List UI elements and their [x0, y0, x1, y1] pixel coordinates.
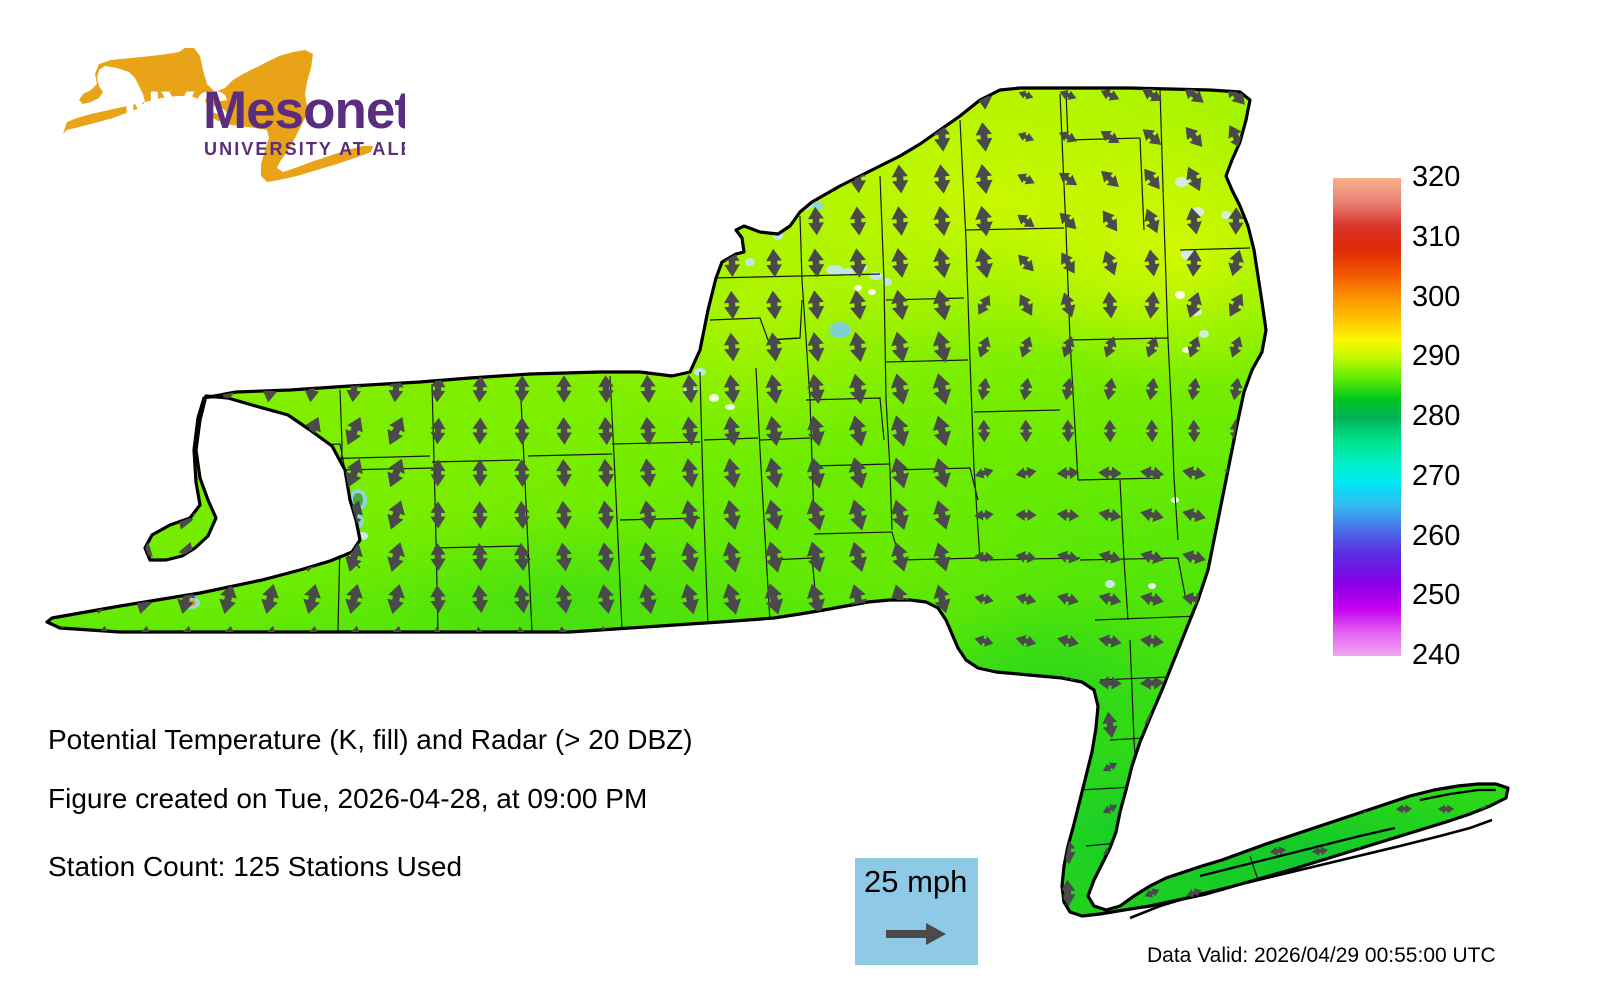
- wind-arrow: [1265, 464, 1291, 483]
- wind-arrow: [640, 291, 655, 319]
- wind-arrow: [471, 165, 489, 194]
- wind-arrow: [514, 333, 530, 361]
- colorbar-tick-310: 310: [1412, 223, 1460, 252]
- wind-arrow: [385, 666, 407, 699]
- wind-arrow: [808, 123, 824, 151]
- wind-arrow: [1350, 672, 1374, 694]
- wind-arrow: [471, 123, 490, 152]
- wind-arrow: [931, 709, 953, 740]
- wind-arrow: [636, 665, 661, 700]
- data-valid-timestamp: Data Valid: 2026/04/29 00:55:00 UTC: [1147, 944, 1496, 968]
- wind-arrow: [933, 80, 950, 110]
- colorbar-tick-240: 240: [1412, 641, 1460, 670]
- wind-arrow: [1223, 548, 1249, 566]
- wind-arrow: [1266, 592, 1289, 605]
- wind-arrow: [1479, 710, 1497, 740]
- wind-arrow: [892, 81, 908, 110]
- wind-arrow: [1185, 711, 1202, 739]
- wind-arrow: [931, 752, 952, 783]
- wind-arrow: [130, 455, 157, 490]
- wind-arrow: [130, 413, 158, 448]
- wind-arrow: [1307, 632, 1332, 651]
- wind-arrow: [1480, 762, 1496, 771]
- wind-arrow: [678, 877, 702, 910]
- wind-arrow: [805, 835, 827, 866]
- wind-arrow: [1311, 123, 1328, 151]
- wind-arrow: [261, 333, 280, 362]
- wind-arrow: [805, 793, 828, 825]
- wind-arrow: [1101, 885, 1120, 901]
- wind-arrow: [1269, 761, 1287, 773]
- wind-arrow: [1308, 507, 1332, 524]
- wind-arrow: [1265, 672, 1292, 694]
- wind-arrow: [133, 666, 155, 699]
- figure-created-timestamp: Figure created on Tue, 2026-04-28, at 09…: [48, 783, 647, 815]
- wind-arrow: [682, 207, 698, 235]
- wind-arrow: [1353, 81, 1371, 110]
- colorbar-tick-260: 260: [1412, 522, 1460, 551]
- wind-arrow: [1264, 79, 1291, 110]
- wind-arrow: [1185, 760, 1203, 774]
- wind-arrow: [804, 751, 827, 784]
- wind-arrow: [468, 834, 493, 869]
- wind-arrow: [1308, 464, 1333, 482]
- wind-arrow: [761, 666, 786, 701]
- wind-arrow: [303, 206, 322, 235]
- wind-arrow: [471, 207, 489, 235]
- wind-arrow: [1270, 711, 1286, 738]
- wind-arrow: [1185, 802, 1203, 816]
- wind-arrow: [682, 291, 698, 319]
- wind-arrow: [1017, 837, 1035, 865]
- wind-arrow: [387, 333, 405, 361]
- wind-arrow: [215, 498, 241, 533]
- wind-arrow: [555, 165, 573, 193]
- wind-arrow: [1438, 888, 1454, 897]
- wind-arrow: [974, 752, 994, 782]
- wind-arrow: [762, 793, 786, 826]
- wind-arrow: [1308, 592, 1332, 607]
- wind-arrow: [719, 708, 744, 743]
- wind-arrow: [217, 666, 239, 699]
- wind-arrow: [470, 667, 491, 699]
- wind-arrow: [261, 290, 280, 319]
- wind-arrow: [92, 374, 111, 404]
- wind-arrow: [762, 750, 786, 783]
- wind-arrow: [135, 332, 154, 362]
- wind-arrow: [51, 248, 69, 279]
- wind-arrow: [345, 206, 364, 235]
- wind-arrow: [511, 667, 533, 699]
- wind-arrow: [135, 290, 154, 320]
- wind-arrow: [93, 206, 111, 237]
- wind-arrow: [1438, 762, 1454, 771]
- wind-arrow: [513, 165, 531, 193]
- wind-arrow: [1223, 591, 1248, 607]
- wind-arrow: [1396, 888, 1412, 897]
- wind-arrow: [472, 333, 489, 361]
- wind-arrow: [88, 455, 115, 490]
- wind-arrow: [891, 122, 908, 152]
- wind-arrow: [1267, 122, 1290, 153]
- wind-arrow: [387, 207, 406, 236]
- wind-arrow: [467, 875, 493, 911]
- wind-arrow: [720, 835, 744, 868]
- wind-arrow: [47, 540, 72, 574]
- wind-arrow: [597, 165, 614, 193]
- wind-arrow: [1311, 888, 1328, 899]
- wind-arrow: [387, 291, 405, 319]
- colorbar-tick-320: 320: [1412, 163, 1460, 192]
- wind-arrow: [1396, 762, 1412, 771]
- wind-arrow: [1270, 165, 1286, 193]
- wind-arrow: [135, 206, 153, 237]
- wind-arrow: [89, 498, 115, 533]
- wind-arrow: [1182, 634, 1207, 648]
- wind-arrow: [215, 540, 240, 574]
- wind-arrow: [1477, 125, 1499, 148]
- wind-arrow: [387, 249, 405, 278]
- wind-arrow: [1268, 206, 1289, 236]
- wind-speed-legend: 25 mph: [855, 858, 978, 965]
- wind-arrow: [1016, 710, 1036, 740]
- wind-arrow: [509, 875, 535, 911]
- nys-mesonet-logo: NYS Mesonet UNIVERSITY AT ALBANY: [55, 48, 405, 183]
- wind-arrow-icon: [886, 921, 948, 947]
- wind-arrow: [766, 165, 781, 193]
- wind-arrow: [551, 875, 576, 910]
- wind-arrow: [91, 666, 113, 699]
- wind-arrow: [889, 709, 912, 741]
- wind-arrow: [51, 205, 69, 236]
- wind-arrow: [177, 206, 196, 236]
- wind-arrow: [429, 80, 448, 109]
- wind-arrow: [932, 794, 952, 824]
- wind-arrow: [46, 455, 73, 490]
- wind-arrow: [681, 123, 698, 151]
- wind-arrow: [1311, 762, 1328, 773]
- wind-arrow: [298, 455, 325, 490]
- wind-arrow: [93, 290, 112, 320]
- wind-arrow: [1310, 374, 1331, 404]
- wind-arrow: [846, 624, 870, 658]
- wind-arrow: [555, 81, 573, 109]
- wind-arrow: [345, 291, 363, 320]
- wind-arrow: [1310, 165, 1329, 194]
- wind-arrow: [720, 792, 744, 825]
- wind-arrow: [428, 668, 448, 699]
- wind-arrow: [48, 582, 72, 616]
- wind-arrow: [93, 332, 112, 362]
- wind-arrow: [1394, 672, 1415, 693]
- wind-arrow: [640, 249, 656, 277]
- wind-arrow: [51, 290, 70, 321]
- wind-arrow: [303, 248, 322, 277]
- wind-arrow: [1223, 673, 1250, 693]
- wind-arrow: [1014, 675, 1037, 691]
- wind-arrow: [49, 666, 71, 699]
- wind-arrow: [556, 333, 572, 361]
- figure-title: Potential Temperature (K, fill) and Rada…: [48, 724, 693, 756]
- wind-arrow: [429, 207, 447, 236]
- wind-arrow: [721, 877, 744, 909]
- logo-mesonet-text: Mesonet: [203, 81, 405, 140]
- wind-arrow: [256, 413, 284, 448]
- wind-arrow: [636, 834, 661, 868]
- wind-arrow: [594, 666, 618, 700]
- wind-arrow: [509, 833, 535, 869]
- wind-arrow: [850, 81, 866, 109]
- wind-arrow: [973, 675, 995, 690]
- wind-arrow: [257, 540, 282, 574]
- wind-arrow: [555, 207, 572, 235]
- wind-arrow: [1353, 123, 1371, 151]
- colorbar-tick-280: 280: [1412, 402, 1460, 431]
- wind-arrow: [219, 290, 238, 319]
- wind-arrow: [1480, 846, 1496, 855]
- wind-arrow: [681, 81, 698, 109]
- wind-arrow: [1265, 549, 1290, 565]
- wind-arrow: [763, 835, 786, 867]
- wind-arrow: [1308, 550, 1331, 564]
- wind-arrow: [1018, 879, 1035, 907]
- colorbar-tick-290: 290: [1412, 342, 1460, 371]
- wind-arrow: [303, 333, 321, 362]
- wind-arrow: [429, 291, 447, 319]
- wind-arrow: [303, 291, 322, 320]
- wind-arrow: [682, 165, 699, 193]
- wind-arrow: [177, 248, 196, 278]
- wind-arrow: [1223, 505, 1250, 524]
- wind-arrow: [1480, 888, 1496, 897]
- wind-arrow: [513, 81, 531, 110]
- wind-arrow: [762, 708, 787, 742]
- wind-arrow: [931, 667, 954, 699]
- wind-arrow: [471, 291, 488, 319]
- wind-arrow: [974, 794, 993, 823]
- wind-arrow: [639, 123, 656, 151]
- wind-arrow: [805, 878, 826, 909]
- wind-arrow: [177, 332, 196, 362]
- wind-arrow: [640, 333, 656, 361]
- wind-arrow: [1227, 803, 1245, 816]
- wind-arrow: [1477, 82, 1498, 108]
- wind-arrow: [429, 333, 446, 361]
- colorbar-tick-300: 300: [1412, 283, 1460, 312]
- wind-arrow: [847, 793, 869, 824]
- wind-arrow: [214, 455, 241, 490]
- wind-arrow: [598, 333, 613, 361]
- wind-arrow: [1223, 633, 1248, 648]
- wind-arrow: [1396, 711, 1413, 739]
- wind-arrow: [219, 332, 238, 361]
- wind-arrow: [553, 666, 576, 699]
- wind-arrow: [1269, 803, 1287, 815]
- wind-arrow: [1143, 844, 1162, 859]
- wind-arrow: [719, 665, 744, 700]
- wind-arrow: [804, 666, 829, 700]
- wind-arrow: [677, 665, 703, 701]
- wind-arrow: [555, 123, 573, 151]
- wind-arrow: [1436, 81, 1456, 108]
- wind-arrow: [219, 248, 238, 278]
- wind-arrow: [889, 794, 910, 825]
- wind-arrow: [766, 81, 783, 109]
- wind-arrow: [598, 249, 614, 277]
- wind-arrow: [724, 123, 741, 151]
- wind-arrow: [471, 249, 489, 277]
- wind-arrow: [1354, 888, 1371, 898]
- wind-arrow: [214, 413, 242, 448]
- wind-arrow: [556, 249, 573, 277]
- wind-arrow: [846, 666, 870, 699]
- wind-arrow: [846, 709, 869, 742]
- wind-arrow: [429, 165, 448, 194]
- wind-arrow: [1265, 506, 1291, 524]
- wind-arrow: [640, 207, 656, 235]
- wind-arrow: [93, 248, 111, 279]
- wind-arrow: [804, 624, 829, 658]
- wind-arrow: [1308, 79, 1332, 110]
- wind-arrow: [219, 206, 238, 236]
- wind-arrow: [175, 666, 197, 699]
- wind-arrow: [177, 374, 196, 403]
- wind-arrow: [1396, 81, 1413, 108]
- wind-arrow: [1016, 752, 1035, 781]
- wind-arrow: [345, 249, 364, 278]
- wind-arrow: [639, 81, 657, 109]
- colorbar-tick-labels: 320310300290280270260250240: [1412, 178, 1532, 656]
- wind-arrow: [598, 291, 614, 319]
- wind-arrow: [1017, 795, 1036, 824]
- wind-arrow: [1143, 760, 1162, 775]
- wind-arrow: [1438, 846, 1454, 855]
- station-count-label: Station Count: 125 Stations Used: [48, 851, 462, 883]
- wind-arrow: [261, 206, 280, 236]
- wind-arrow: [257, 498, 283, 533]
- wind-arrow: [429, 123, 448, 152]
- wind-arrow: [1393, 123, 1414, 151]
- wind-arrow: [1310, 416, 1330, 446]
- wind-arrow: [593, 834, 618, 869]
- wind-arrow: [1265, 291, 1291, 319]
- wind-arrow: [888, 624, 912, 657]
- wind-arrow: [1267, 374, 1289, 405]
- wind-arrow: [46, 413, 74, 448]
- wind-arrow: [1058, 710, 1077, 739]
- wind-arrow: [513, 123, 531, 152]
- wind-arrow: [724, 165, 740, 193]
- wind-arrow: [1307, 249, 1332, 277]
- wind-arrow: [1227, 761, 1245, 774]
- wind-arrow: [343, 666, 365, 699]
- wind-arrow: [1308, 206, 1331, 235]
- wind-arrow: [51, 332, 70, 363]
- wind-arrow: [429, 249, 447, 277]
- wind-arrow: [1059, 753, 1078, 782]
- wind-arrow: [514, 291, 531, 319]
- wind-arrow: [640, 165, 657, 193]
- wind-arrow: [1311, 804, 1328, 815]
- wind-arrow: [678, 834, 702, 868]
- wind-arrow: [763, 877, 785, 908]
- wind-arrow: [1228, 711, 1244, 738]
- wind-arrow: [594, 876, 619, 910]
- wind-arrow: [719, 623, 745, 659]
- wind-arrow: [261, 248, 280, 277]
- wind-arrow: [88, 413, 116, 448]
- wind-arrow: [847, 751, 870, 783]
- wind-arrow: [1268, 416, 1289, 446]
- colorbar-tick-270: 270: [1412, 462, 1460, 491]
- colorbar: [1333, 178, 1401, 656]
- wind-arrow: [682, 249, 697, 277]
- wind-arrow: [973, 710, 994, 740]
- wind-arrow: [513, 249, 530, 277]
- wind-arrow: [1480, 674, 1495, 692]
- colorbar-tick-250: 250: [1412, 581, 1460, 610]
- wind-arrow: [808, 81, 824, 109]
- wind-arrow: [1143, 802, 1162, 817]
- wind-arrow: [677, 623, 702, 658]
- wind-arrow: [889, 751, 911, 782]
- wind-arrow: [804, 708, 828, 741]
- wind-arrow: [135, 248, 154, 278]
- wind-arrow: [47, 498, 73, 533]
- wind-arrow: [888, 667, 911, 699]
- wind-arrow: [678, 792, 703, 826]
- wind-arrow: [1354, 711, 1370, 739]
- wind-arrow: [766, 123, 782, 151]
- wind-arrow: [1265, 632, 1291, 649]
- wind-arrow: [513, 207, 531, 235]
- wind-arrow: [1267, 331, 1289, 362]
- wind-arrow: [1308, 292, 1333, 317]
- wind-arrow: [1309, 332, 1331, 363]
- wind-arrow: [1181, 674, 1207, 691]
- wind-arrow: [259, 666, 281, 699]
- wind-arrow: [636, 876, 660, 910]
- wind-arrow: [556, 291, 572, 319]
- wind-arrow: [1313, 712, 1328, 739]
- wind-legend-label: 25 mph: [864, 864, 967, 900]
- wind-arrow: [50, 374, 69, 404]
- wind-arrow: [1307, 672, 1333, 694]
- wind-arrow: [1266, 248, 1290, 278]
- wind-arrow: [1185, 844, 1203, 858]
- wind-arrow: [177, 290, 196, 320]
- logo-subtitle-text: UNIVERSITY AT ALBANY: [204, 139, 405, 159]
- wind-arrow: [850, 123, 866, 152]
- wind-arrow: [1437, 711, 1455, 740]
- wind-arrow: [1435, 124, 1457, 150]
- wind-arrow: [345, 333, 363, 361]
- wind-arrow: [131, 498, 157, 533]
- wind-arrow: [761, 623, 786, 658]
- wind-arrow: [597, 123, 615, 151]
- wind-arrow: [1354, 762, 1371, 772]
- wind-arrow: [89, 540, 114, 574]
- wind-arrow: [597, 81, 615, 109]
- wind-arrow: [808, 165, 824, 194]
- wind-arrow: [256, 455, 283, 490]
- wind-arrow: [301, 666, 323, 699]
- wind-arrow: [1437, 673, 1455, 693]
- wind-arrow: [471, 81, 490, 110]
- wind-arrow: [1269, 887, 1287, 899]
- wind-arrow: [551, 833, 577, 869]
- wind-arrow: [135, 374, 154, 404]
